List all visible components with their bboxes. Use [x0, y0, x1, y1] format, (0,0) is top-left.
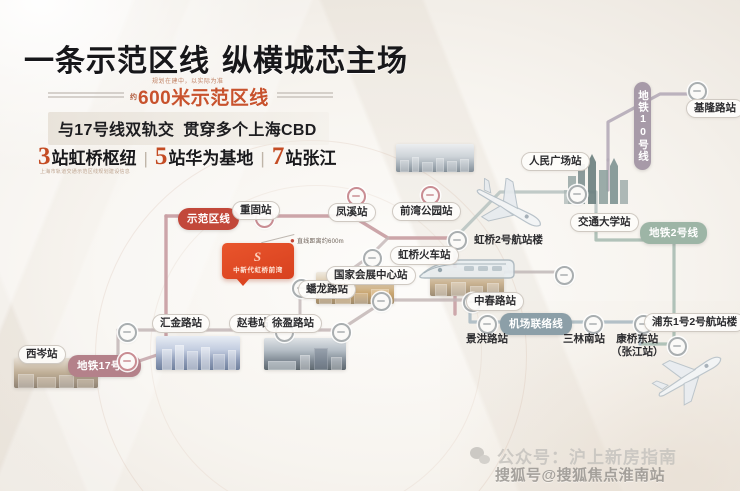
station-node-hongqiaohuoche[interactable] — [372, 292, 391, 311]
station-label-zhongchunlu[interactable]: 中春路站 — [466, 292, 524, 311]
landmark-label: 青浦宝龙广场 — [156, 369, 240, 370]
marker-callout-text: 直线距离约600m — [297, 239, 344, 245]
station-node-jiaotongdaxue[interactable] — [555, 266, 574, 285]
station-node-xicen[interactable] — [118, 352, 137, 371]
station-label-renminguangchang[interactable]: 人民广场站 — [521, 152, 590, 171]
line-badge-metro2[interactable]: 地铁2号线 — [640, 222, 707, 244]
project-name: 中新代虹桥前湾 — [222, 264, 294, 274]
station-label-jilonglu[interactable]: 基隆路站 — [686, 99, 740, 118]
station-label-pudongt1t2[interactable]: 浦东1号2号航站楼 — [644, 313, 740, 332]
wechat-icon — [470, 447, 490, 464]
station-label-chonggu[interactable]: 重固站 — [232, 201, 280, 220]
station-node-xuyinglu[interactable] — [332, 323, 351, 342]
station-node-huijinlu[interactable] — [118, 323, 137, 342]
station-label-jinghonglu[interactable]: 景洪路站 — [459, 331, 515, 348]
landmark-label: 虹桥前湾 — [396, 171, 474, 172]
landmark-label: 华为研发中心 — [14, 387, 98, 388]
photo-hongqiaoqianwan: 虹桥前湾 — [396, 144, 474, 172]
station-label-main: 康桥东站 — [611, 333, 664, 346]
station-label-xicen[interactable]: 西岑站 — [18, 345, 66, 364]
station-label-hongqiaohuoche[interactable]: 虹桥火车站 — [390, 246, 459, 265]
station-label-huijinlu[interactable]: 汇金路站 — [152, 314, 210, 333]
station-node-renminguangchang[interactable] — [568, 185, 587, 204]
station-label-hongqiaot2[interactable]: 虹桥2号航站楼 — [467, 232, 550, 249]
airplane-icon-hongqiao — [466, 178, 552, 240]
sohu-watermark: 搜狐号@搜狐焦点淮南站 — [495, 464, 665, 485]
transit-map-poster: 一条示范区线纵横城芯主场 约600米示范区线 规划在建中，以实际为准 与17号线… — [0, 0, 740, 491]
station-label-xuyinglu[interactable]: 徐盈路站 — [264, 314, 322, 333]
project-logo: S — [222, 249, 294, 265]
station-node-pudongt1t2[interactable] — [668, 337, 687, 356]
project-marker[interactable]: S 中新代虹桥前湾 — [222, 243, 294, 279]
line-badge-demo[interactable]: 示范区线 — [178, 208, 239, 230]
station-label-guojiahuizhan[interactable]: 国家会展中心站 — [326, 266, 416, 285]
line-badge-metro10[interactable]: 地铁10号线 — [634, 82, 651, 170]
rail-network-lines — [0, 0, 740, 491]
station-label-fengxi[interactable]: 凤溪站 — [328, 203, 376, 222]
photo-tiankongzhicheng: 天空之城 — [264, 338, 346, 370]
landmark-label: 天空之城 — [264, 369, 346, 370]
marker-callout: ●直线距离约600m — [290, 236, 344, 245]
station-label-qianwangongyuan[interactable]: 前湾公园站 — [392, 202, 461, 221]
photo-qingpubaolong: 青浦宝龙广场 — [156, 336, 240, 370]
station-label-kangqiaodong[interactable]: 康桥东站 （张江站） — [604, 331, 671, 362]
station-label-jiaotongdaxue[interactable]: 交通大学站 — [570, 213, 639, 232]
station-label-sub: （张江站） — [611, 346, 664, 359]
